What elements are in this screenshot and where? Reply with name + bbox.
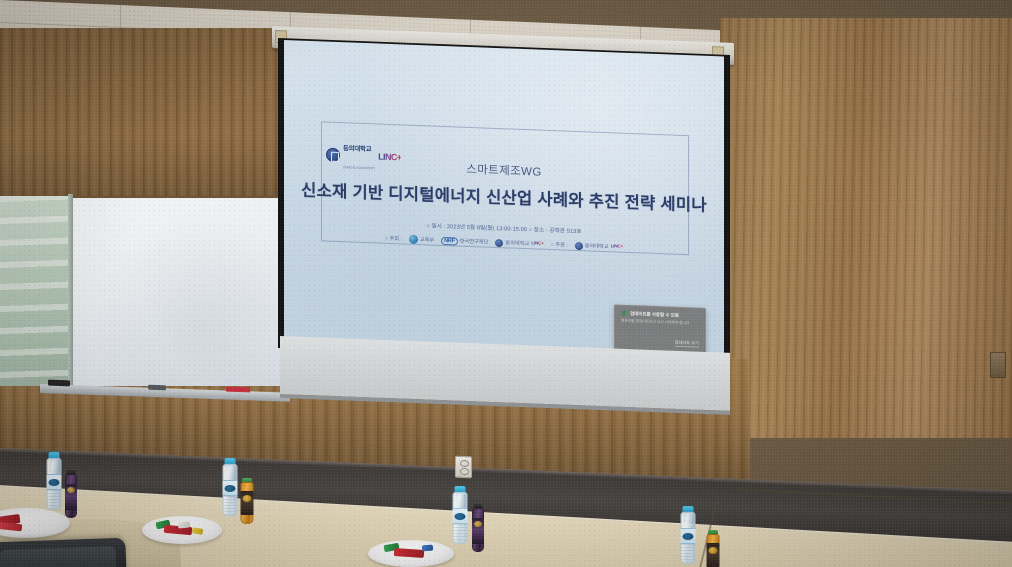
bottle-label: [707, 543, 720, 567]
whiteboard-marker[interactable]: [148, 385, 166, 391]
wood-panel-wall-right: [720, 18, 1012, 438]
host-label: ○ 주최 :: [385, 235, 402, 243]
office-chair[interactable]: [0, 538, 127, 567]
bottle-label: [223, 480, 238, 496]
organizer-moe: 교육부: [409, 235, 434, 245]
windows-update-toast[interactable]: 업데이트를 사용할 수 있음 컴퓨터를 업데이트하고 다시 시작해야 합니다 업…: [614, 304, 706, 353]
whiteboard-eraser[interactable]: [48, 380, 70, 387]
wood-panel-wall-left: [0, 28, 300, 208]
university-seal-icon-small-2: [575, 241, 583, 249]
organizer-university: 동의대학교 LINC+: [495, 238, 543, 248]
moe-emblem-icon: [409, 235, 418, 244]
water-bottle[interactable]: [222, 458, 238, 518]
bottle-label: [241, 491, 254, 515]
seminar-room-photo: 동의대학교 DONG-EUI UNIVERSITY LINC+ 스마트제조WG …: [0, 0, 1012, 567]
water-bottle[interactable]: [452, 486, 468, 546]
snack-item: [178, 521, 191, 528]
grape-drink-bottle[interactable]: [64, 470, 77, 520]
water-bottle[interactable]: [680, 506, 696, 566]
bottle-label: [681, 528, 696, 544]
nrf-mark-icon: NRF: [441, 236, 457, 245]
snack-item: [192, 527, 204, 535]
linc-logo-small: LINC+: [531, 241, 544, 246]
whiteboard-marker-red[interactable]: [226, 387, 250, 393]
organizer-nrf: NRF 한국연구재단: [441, 236, 488, 246]
cohost-university: 동의대학교 LINC+: [575, 241, 623, 251]
linc-logo-small-2: LINC+: [611, 244, 624, 249]
university-seal-icon-small: [495, 238, 503, 246]
snack-plate[interactable]: [142, 516, 222, 544]
bottle-label: [47, 474, 62, 490]
outlet-socket-top: [460, 460, 469, 467]
bottle-label: [472, 518, 484, 544]
bottle-label: [453, 508, 468, 524]
grape-drink-bottle[interactable]: [471, 504, 484, 554]
snack-plate[interactable]: [368, 540, 454, 567]
snack-item: [422, 545, 433, 552]
bottle-label: [65, 484, 77, 510]
wall-power-outlet[interactable]: [455, 456, 472, 479]
water-bottle[interactable]: [46, 452, 62, 512]
whiteboard: [73, 196, 288, 386]
frosted-glass-panel: [0, 196, 72, 386]
toast-action-button[interactable]: 업데이트 보기: [675, 340, 699, 348]
chair-backrest: [0, 546, 117, 567]
toast-body: 컴퓨터를 업데이트하고 다시 시작해야 합니다: [621, 319, 699, 327]
cohost-label: ○ 주관 :: [551, 241, 568, 249]
wall-plate: [990, 352, 1006, 378]
toast-title: 업데이트를 사용할 수 있음: [630, 311, 679, 319]
snack-item: [394, 548, 424, 558]
snack-item: [0, 522, 22, 532]
update-bolt-icon: [621, 311, 627, 317]
presentation-slide: 동의대학교 DONG-EUI UNIVERSITY LINC+ 스마트제조WG …: [284, 40, 724, 357]
university-name-kr: 동의대학교: [343, 145, 371, 153]
orange-juice-bottle[interactable]: [240, 478, 254, 526]
orange-juice-bottle[interactable]: [706, 530, 720, 567]
outlet-socket-bottom: [460, 468, 469, 475]
